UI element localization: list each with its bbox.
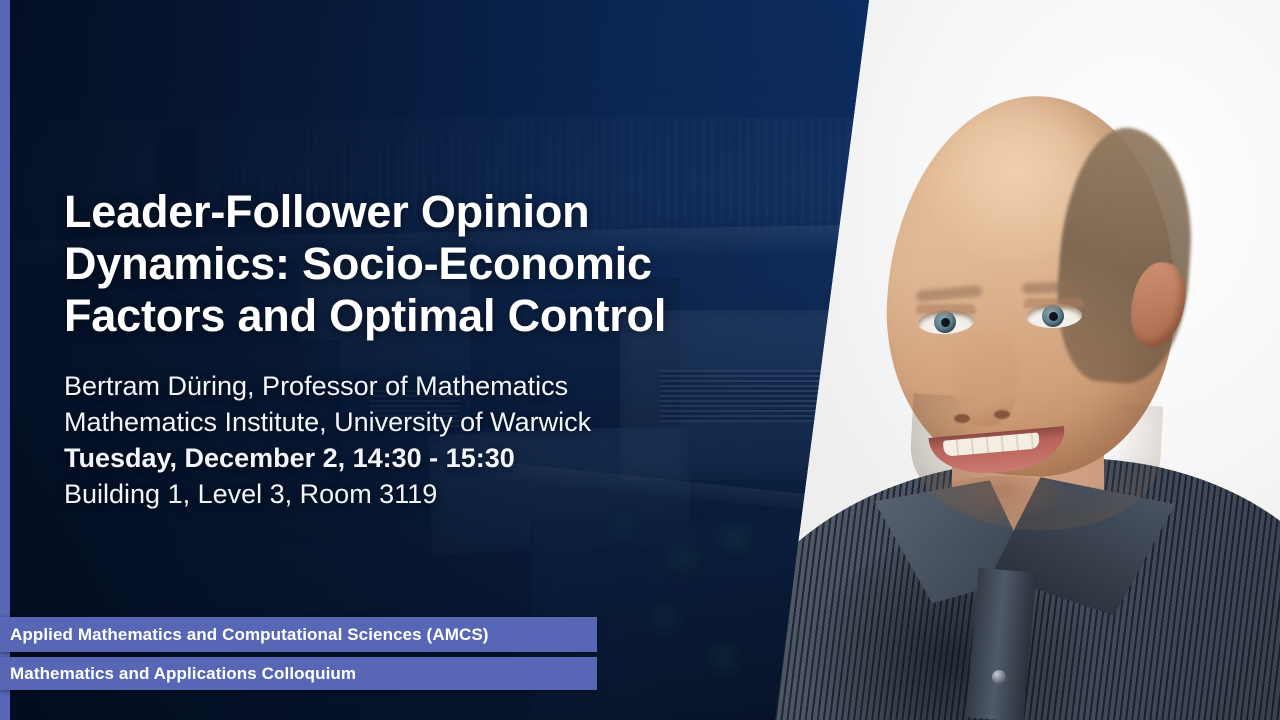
nostril-right <box>994 410 1010 419</box>
event-location: Building 1, Level 3, Room 3119 <box>64 476 724 512</box>
eyebrow-right <box>1022 281 1088 294</box>
speaker-affiliation: Mathematics Institute, University of War… <box>64 404 724 440</box>
iris-right <box>1042 305 1065 328</box>
talk-title: Leader-Follower Opinion Dynamics: Socio-… <box>64 186 704 342</box>
department-banner: Applied Mathematics and Computational Sc… <box>0 617 597 652</box>
chin-shadow <box>928 476 1078 522</box>
speaker-details: Bertram Düring, Professor of Mathematics… <box>64 368 724 512</box>
department-banner-label: Applied Mathematics and Computational Sc… <box>10 625 489 645</box>
eyelid-right <box>1024 298 1084 308</box>
pupil-left <box>941 318 950 327</box>
series-banner: Mathematics and Applications Colloquium <box>0 657 597 690</box>
series-banner-label: Mathematics and Applications Colloquium <box>10 664 356 684</box>
nostril-left <box>954 414 970 423</box>
seminar-announcement-slide: Leader-Follower Opinion Dynamics: Socio-… <box>0 0 1280 720</box>
eyelid-left <box>916 304 976 314</box>
pupil-right <box>1049 312 1058 321</box>
shirt-button <box>992 670 1006 684</box>
left-accent-stripe <box>0 0 10 720</box>
speaker-name-role: Bertram Düring, Professor of Mathematics <box>64 368 724 404</box>
event-datetime: Tuesday, December 2, 14:30 - 15:30 <box>64 440 724 476</box>
teeth <box>943 432 1040 456</box>
